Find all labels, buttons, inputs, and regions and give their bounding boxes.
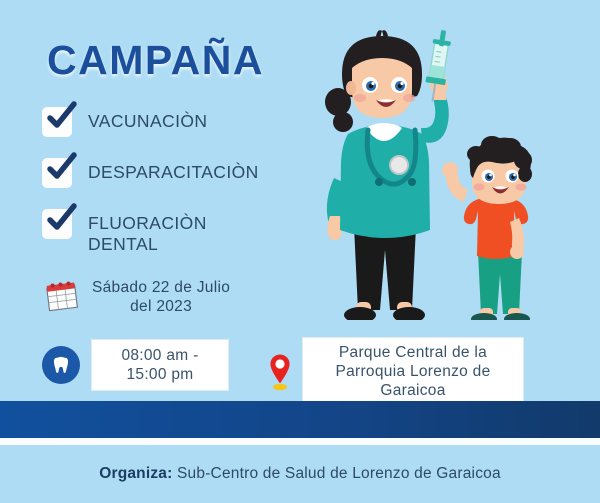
list-item: DESPARACITACIÒN [42, 157, 297, 195]
list-item-label: FLUORACIÒN DENTAL [88, 208, 207, 255]
event-location-line2: Parroquia Lorenzo de [335, 363, 490, 380]
campaign-poster: CAMPAÑA VACUNACIÒN DESPARACITACIÒN FLUOR… [0, 0, 600, 503]
event-location: Parque Central de la Parroquia Lorenzo d… [266, 337, 524, 406]
services-checklist: VACUNACIÒN DESPARACITACIÒN FLUORACIÒN DE… [42, 106, 297, 268]
list-item: FLUORACIÒN DENTAL [42, 208, 297, 255]
event-location-line3: Garaicoa [380, 382, 445, 399]
list-item-label: VACUNACIÒN [88, 106, 207, 132]
divider-band [0, 401, 600, 438]
event-time-line2: 15:00 pm [126, 366, 193, 383]
event-location-line1: Parque Central de la [339, 344, 487, 361]
check-icon [42, 158, 72, 188]
map-pin-icon [266, 352, 294, 392]
event-time: 08:00 am - 15:00 pm [42, 339, 229, 391]
calendar-icon [44, 280, 80, 314]
divider-gap [0, 438, 600, 445]
child-character [442, 136, 532, 320]
event-time-box: 08:00 am - 15:00 pm [91, 339, 229, 391]
nurse-character [325, 30, 454, 320]
check-icon [42, 209, 72, 239]
illustration [296, 30, 564, 320]
footer-text: Organiza: Sub-Centro de Salud de Lorenzo… [99, 465, 501, 483]
page-title: CAMPAÑA [47, 37, 264, 84]
footer-label: Organiza: [99, 465, 172, 482]
event-location-box: Parque Central de la Parroquia Lorenzo d… [302, 337, 524, 406]
event-date-line2: del 2023 [130, 298, 192, 315]
event-date-text: Sábado 22 de Julio del 2023 [92, 278, 230, 316]
list-item: VACUNACIÒN [42, 106, 297, 144]
footer-organization: Sub-Centro de Salud de Lorenzo de Garaic… [177, 465, 501, 482]
event-date: Sábado 22 de Julio del 2023 [44, 278, 304, 316]
footer: Organiza: Sub-Centro de Salud de Lorenzo… [0, 445, 600, 503]
check-icon [42, 107, 72, 137]
event-time-line1: 08:00 am - [121, 347, 198, 364]
event-date-line1: Sábado 22 de Julio [92, 279, 230, 296]
tooth-icon [42, 346, 80, 384]
list-item-label: DESPARACITACIÒN [88, 157, 259, 183]
